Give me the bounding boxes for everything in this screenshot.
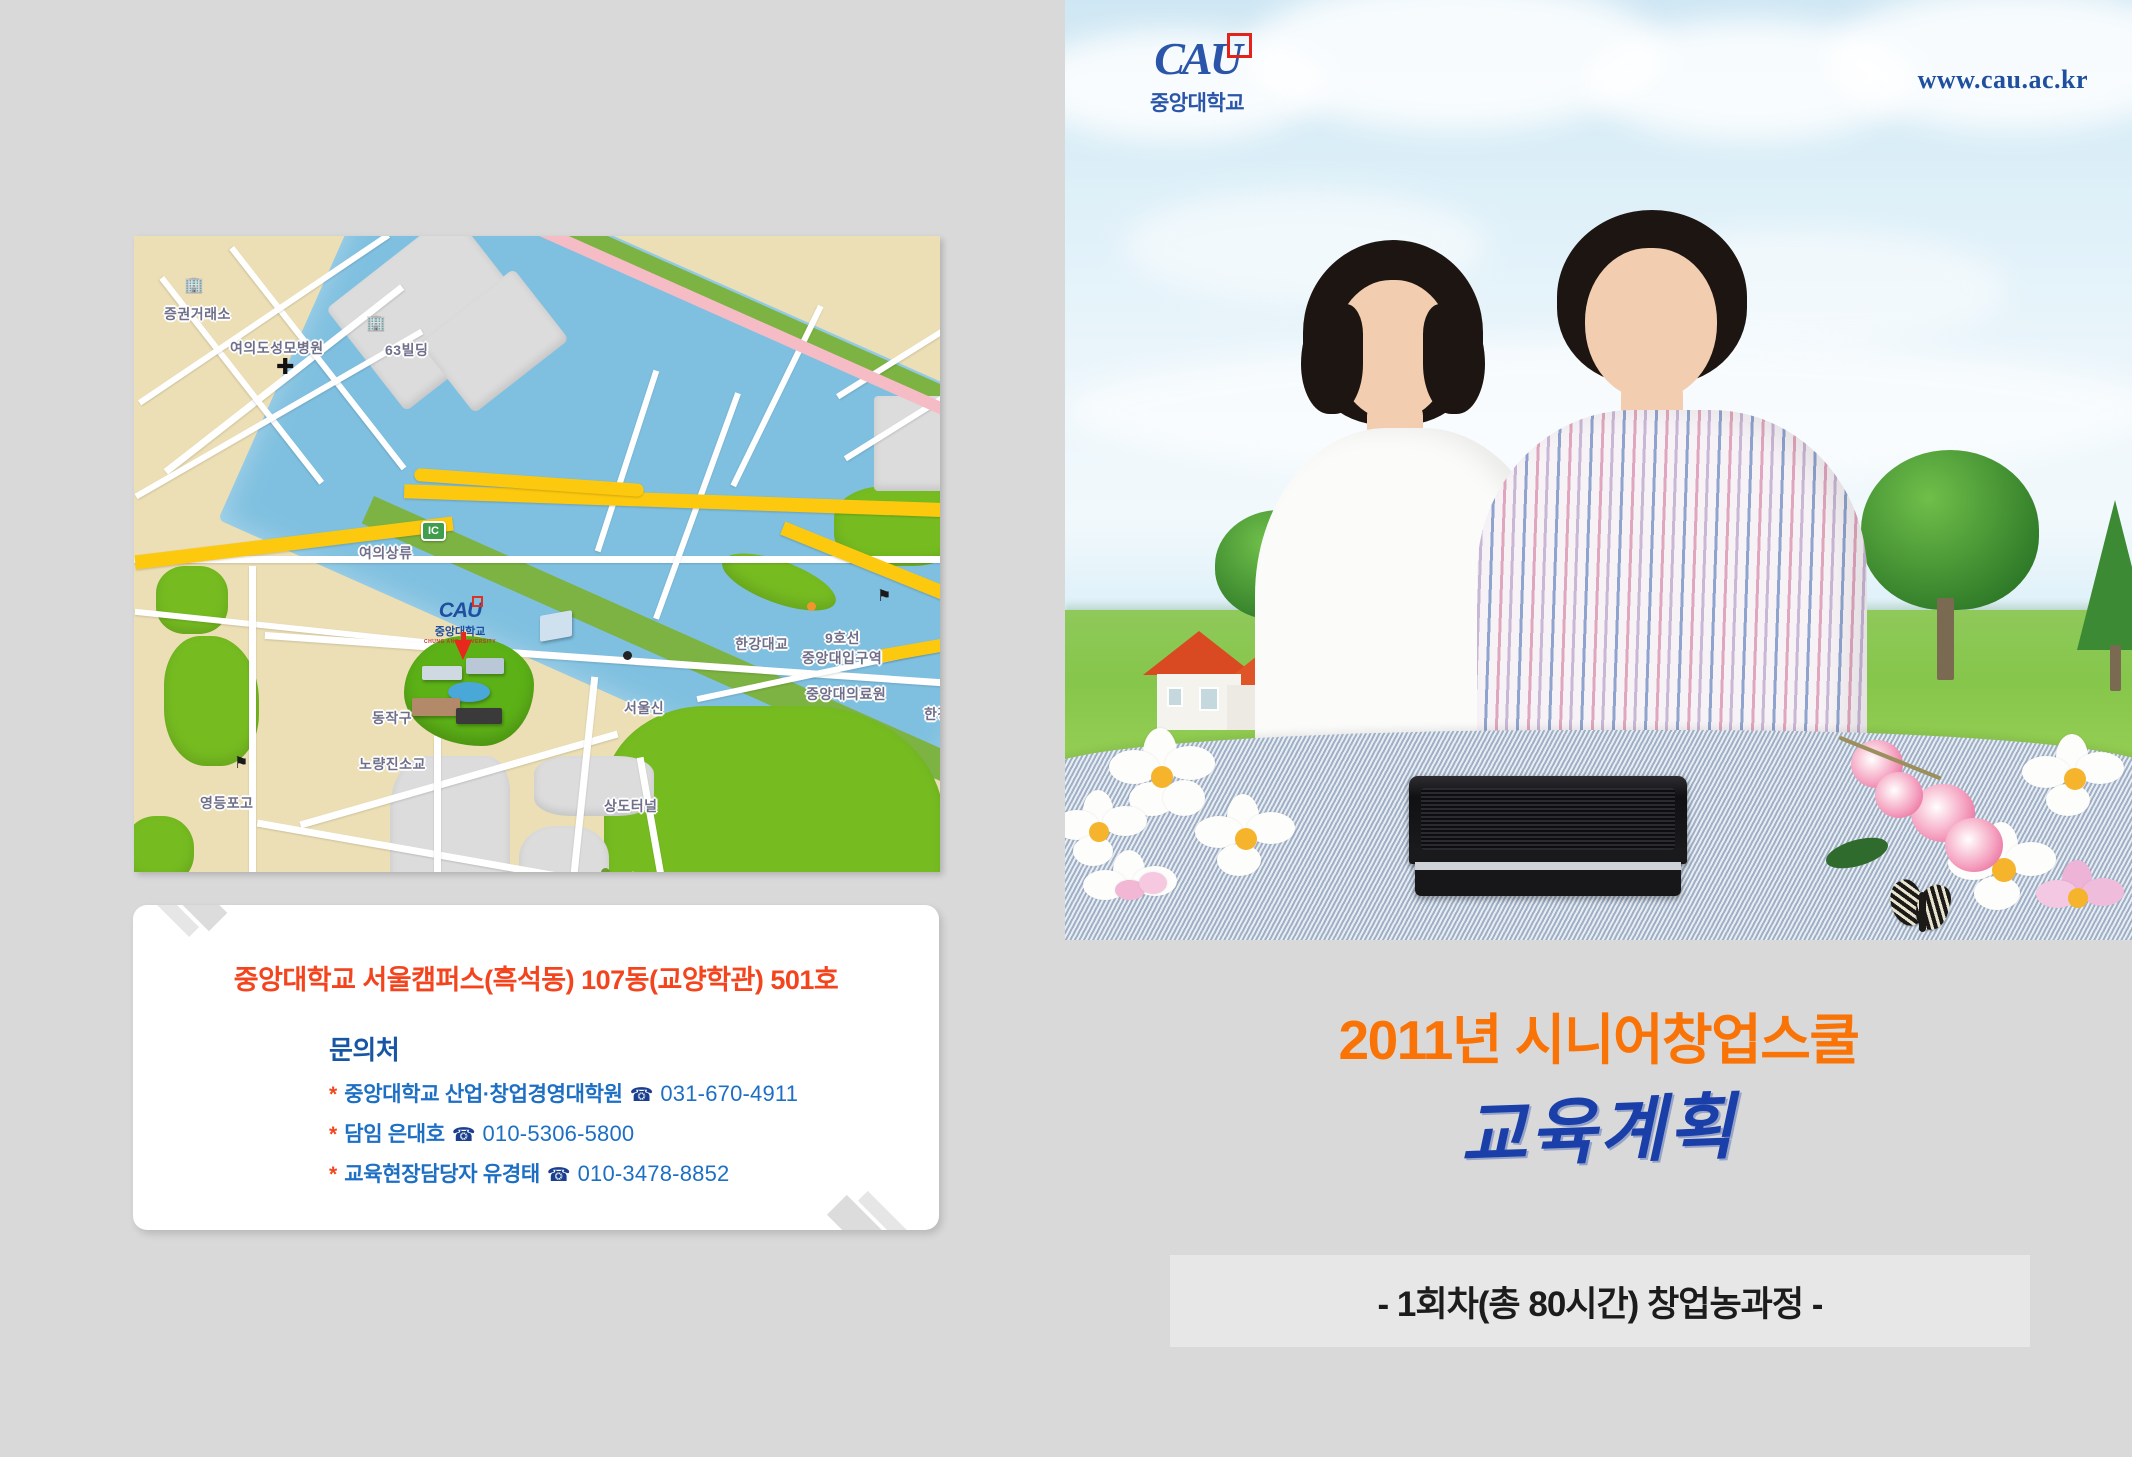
map-park-b	[164, 636, 259, 766]
tree-trunk	[1937, 598, 1954, 680]
tree-trunk	[2110, 645, 2121, 691]
inquiry-label: 문의처	[329, 1030, 798, 1067]
contact-list: 문의처 * 중앙대학교 산업·창업경영대학원 ☎ 031-670-4911 * …	[329, 1030, 798, 1198]
course-band: - 1회차(총 80시간) 창업농과정 -	[1170, 1255, 2030, 1347]
left-panel: IC CAU 중앙대학교 CHUNG ANG UNIVERSITY 🏢 ✚	[0, 0, 1065, 1457]
campus-address: 중앙대학교 서울캠퍼스(흑석동) 107동(교양학관) 501호	[133, 958, 939, 997]
cau-logo-name-kr: 중앙대학교	[1117, 87, 1277, 117]
flower-petal	[1139, 872, 1167, 894]
right-panel: CAU 중앙대학교 www.cau.ac.kr 2011년 시니어창업스쿨 교육…	[1065, 0, 2132, 1457]
flower-center	[1235, 828, 1257, 850]
map-marker-red-square-icon	[472, 596, 483, 607]
butterfly	[1891, 880, 1957, 940]
laptop-lid	[1409, 776, 1687, 864]
flower-petal	[2046, 784, 2090, 816]
map-marker-cau-mark: CAU	[424, 599, 496, 623]
telephone-icon: ☎	[452, 1124, 476, 1147]
map-label: 증권거래소	[164, 304, 231, 324]
telephone-icon: ☎	[547, 1164, 571, 1187]
flower-center	[1089, 822, 1109, 842]
contact-name: 중앙대학교 산업·창업경영대학원	[344, 1078, 623, 1108]
flower-petal	[2082, 878, 2124, 906]
map-label: 상도터널	[604, 796, 658, 816]
map-campus-building	[422, 666, 462, 680]
tree-canopy	[1861, 450, 2039, 610]
contact-row: * 중앙대학교 산업·창업경영대학원 ☎ 031-670-4911	[329, 1078, 798, 1108]
house-window	[1199, 687, 1219, 711]
course-band-text: - 1회차(총 80시간) 창업농과정 -	[1378, 1276, 1823, 1327]
map-label: 노량진소교	[359, 754, 426, 774]
tower-icon: 🏢	[366, 316, 386, 332]
flag-icon: ⚑	[877, 589, 891, 605]
map-marker-arrow-icon	[454, 640, 472, 660]
man-photo-subject	[1485, 210, 1885, 810]
pink-orchid	[1825, 730, 1995, 900]
website-url[interactable]: www.cau.ac.kr	[1918, 65, 2088, 95]
contact-number[interactable]: 010-5306-5800	[483, 1121, 635, 1147]
map-campus-building	[412, 698, 460, 716]
flower-petal	[1103, 806, 1147, 836]
location-map[interactable]: IC CAU 중앙대학교 CHUNG ANG UNIVERSITY 🏢 ✚	[134, 236, 940, 872]
orchid-petal	[1875, 772, 1923, 818]
map-point-dot	[623, 651, 632, 660]
map-label: 중앙대의료원	[806, 684, 886, 704]
bullet-star-icon: *	[329, 1123, 337, 1147]
map-label: 여의도성모병원	[230, 338, 324, 358]
brochure-page: IC CAU 중앙대학교 CHUNG ANG UNIVERSITY 🏢 ✚	[0, 0, 2132, 1457]
building-icon: 🏢	[184, 278, 204, 294]
contact-number[interactable]: 031-670-4911	[660, 1081, 798, 1107]
map-block-e	[519, 826, 609, 872]
map-label: 여의상류	[359, 543, 413, 563]
laptop-base	[1415, 862, 1681, 896]
contact-row: * 담임 은대호 ☎ 010-5306-5800	[329, 1118, 798, 1148]
flower-center	[2064, 768, 2086, 790]
map-campus-building	[456, 708, 502, 724]
station-dot-icon	[601, 868, 610, 872]
pink-cosmos-flower	[2036, 860, 2126, 940]
cau-logo-mark: CAU	[1117, 36, 1277, 82]
contact-name: 담임 은대호	[344, 1118, 445, 1148]
butterfly-body	[1919, 892, 1926, 932]
map-road	[249, 566, 256, 872]
map-road	[434, 736, 441, 872]
pink-cosmos-flower	[1115, 872, 1175, 922]
hospital-cross-icon: ✚	[276, 356, 294, 378]
telephone-icon: ☎	[630, 1084, 654, 1107]
map-label: 영등포고	[200, 793, 254, 813]
flower-center	[2068, 888, 2088, 908]
map-label: 중앙대입구역	[802, 648, 882, 668]
cover-photo: CAU 중앙대학교 www.cau.ac.kr	[1065, 0, 2132, 940]
laptop	[1409, 776, 1687, 898]
bullet-star-icon: *	[329, 1083, 337, 1107]
contact-row: * 교육현장담당자 유경태 ☎ 010-3478-8852	[329, 1158, 798, 1188]
house-window	[1167, 687, 1183, 707]
map-label: 63빌딩	[385, 340, 428, 360]
map-label: 동작구	[372, 708, 412, 728]
contact-card: 중앙대학교 서울캠퍼스(흑석동) 107동(교양학관) 501호 문의처 * 중…	[133, 905, 939, 1230]
tree-conifer	[2065, 500, 2132, 690]
contact-number[interactable]: 010-3478-8852	[578, 1161, 730, 1187]
tree-canopy	[2077, 500, 2132, 650]
cau-logo-red-square-icon	[1227, 33, 1252, 58]
flower-center	[1151, 766, 1173, 788]
map-label: 한강	[924, 704, 940, 724]
cau-logo[interactable]: CAU 중앙대학교	[1117, 36, 1277, 117]
woman-hair-side	[1301, 304, 1363, 414]
map-park-a	[156, 566, 228, 634]
map-label: 9호선	[825, 628, 860, 648]
map-label: 상도역	[623, 871, 663, 872]
orchid-petal	[1945, 818, 2003, 872]
map-label: 한강대교	[735, 634, 789, 654]
map-road-main	[134, 556, 940, 563]
flower-petal	[1217, 844, 1261, 876]
station-dot-icon	[807, 602, 816, 611]
map-campus-building	[466, 658, 504, 674]
laptop-vent-grille	[1421, 788, 1675, 850]
flag-icon: ⚑	[234, 756, 248, 772]
orchid-leaf	[1823, 832, 1892, 875]
map-ic-badge: IC	[421, 521, 446, 541]
contact-name: 교육현장담당자 유경태	[344, 1158, 540, 1188]
bullet-star-icon: *	[329, 1163, 337, 1187]
map-label: 서울신	[624, 698, 664, 718]
flower-petal	[2022, 756, 2070, 788]
cosmos-flower	[1195, 794, 1305, 904]
